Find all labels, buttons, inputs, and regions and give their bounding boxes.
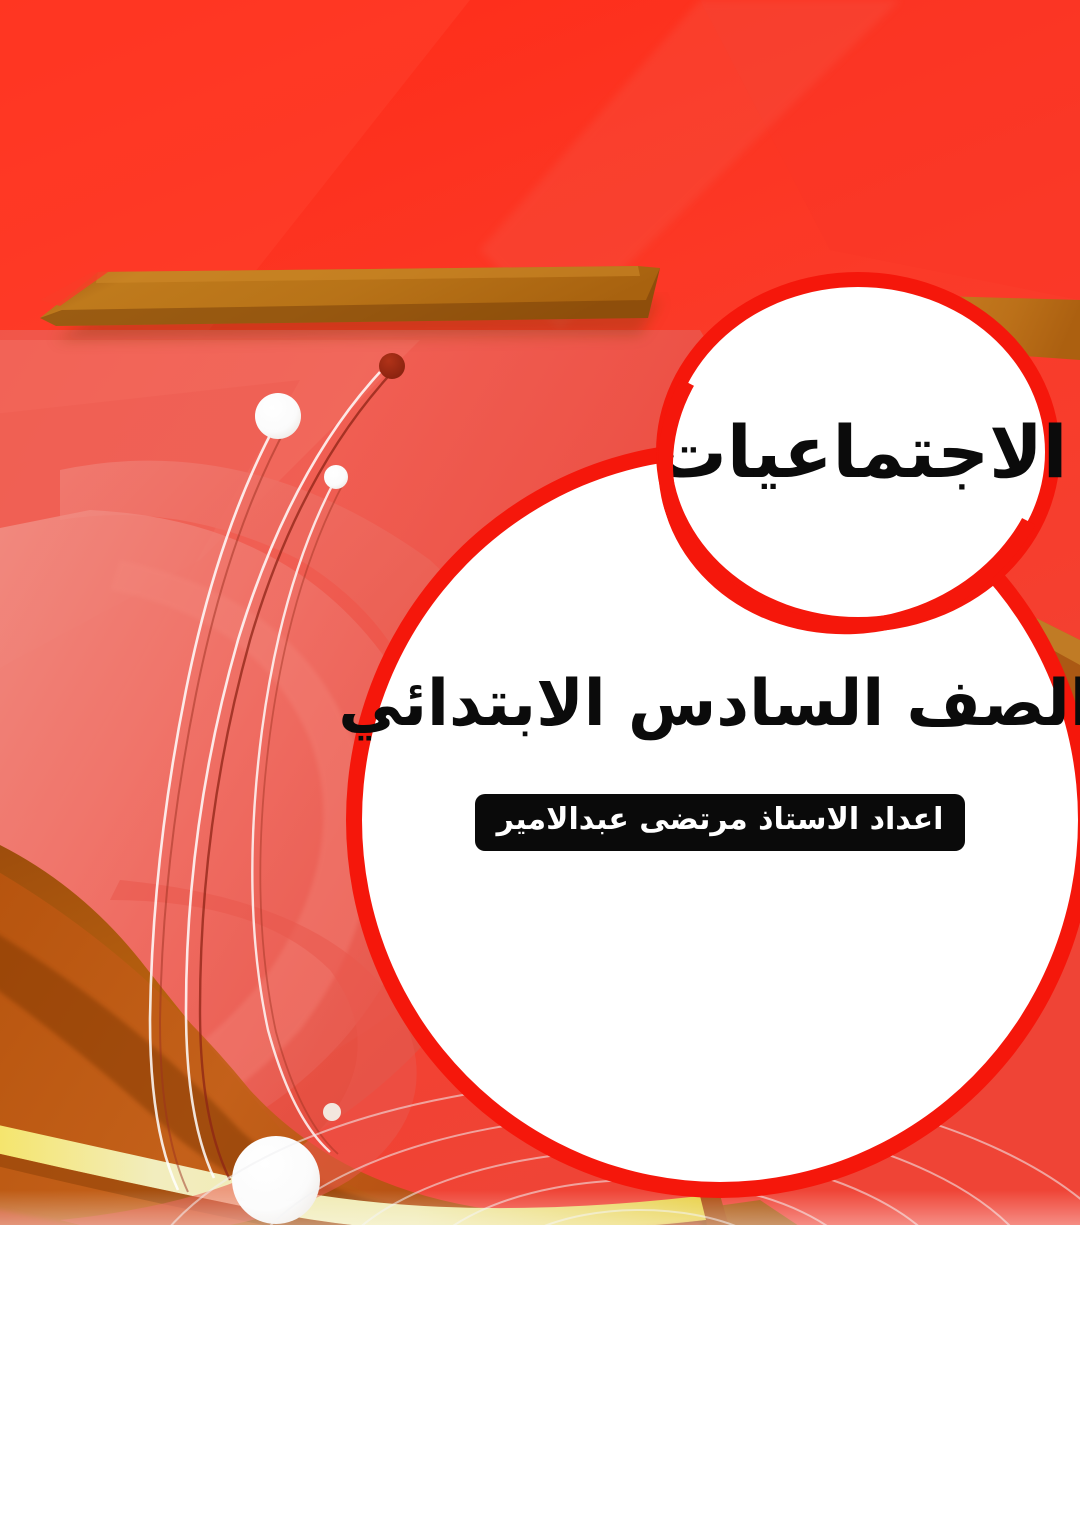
subject-bubble: الاجتماعيات	[656, 272, 1060, 632]
subject-title: الاجتماعيات	[655, 416, 1068, 488]
pin-white-tiny	[323, 1103, 341, 1121]
cover-page: الصف السادس الابتدائي اعداد الاستاذ مرتض…	[0, 0, 1080, 1533]
pin-dark-red	[379, 353, 405, 379]
pin-white-small	[324, 465, 348, 489]
grade-title: الصف السادس الابتدائي	[338, 671, 1080, 738]
author-badge: اعداد الاستاذ مرتضى عبدالامير	[475, 794, 966, 851]
page-bottom-white-area	[0, 1225, 1080, 1533]
tan-horizontal-bar	[40, 266, 660, 340]
pin-white-large	[255, 393, 301, 439]
